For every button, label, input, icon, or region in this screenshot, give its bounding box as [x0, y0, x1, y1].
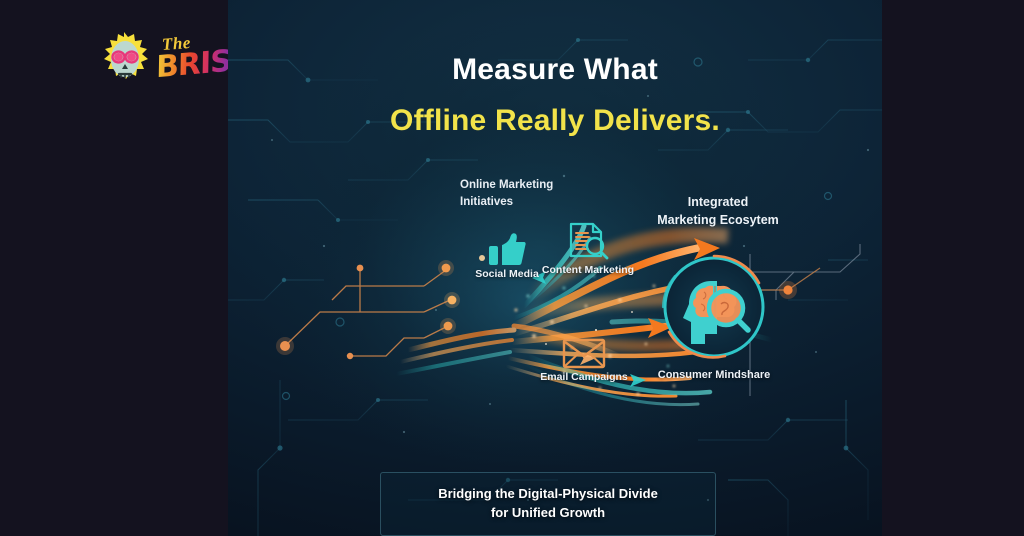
section-header-center: Integrated Marketing Ecosytem: [628, 193, 808, 229]
footer-caption-line2: for Unified Growth: [438, 504, 658, 523]
node-content-marketing[interactable]: Content Marketing: [538, 222, 638, 278]
section-header-online-line1: Online Marketing: [460, 177, 590, 194]
footer-caption-line1: Bridging the Digital-Physical Divide: [438, 485, 658, 504]
headline-line-2: Offline Really Delivers.: [228, 103, 882, 138]
document-search-icon: [567, 222, 609, 262]
brain-head-magnifier-icon: [655, 248, 773, 366]
section-header-online: Online Marketing Initiatives: [460, 177, 590, 210]
section-header-online-line2: Initiatives: [460, 194, 590, 211]
consumer-mindshare-label: Consumer Mindshare: [633, 369, 795, 381]
thumbs-up-icon: [488, 232, 526, 266]
node-label-email-campaigns: Email Campaigns: [536, 371, 632, 385]
node-email-campaigns[interactable]: Email Campaigns: [536, 337, 632, 385]
footer-caption: Bridging the Digital-Physical Divide for…: [438, 485, 658, 523]
page-title: Measure What Offline Really Delivers.: [228, 52, 882, 139]
infographic-panel: Measure What Offline Really Delivers. On…: [228, 0, 882, 536]
section-header-center-line2: Marketing Ecosytem: [628, 211, 808, 229]
mascot-face-icon: [96, 30, 152, 88]
node-label-content-marketing: Content Marketing: [538, 264, 638, 278]
screenshot-root: The BRISK: [0, 0, 1024, 536]
envelope-icon: [562, 337, 606, 369]
section-header-center-line1: Integrated: [628, 193, 808, 211]
footer-caption-box: Bridging the Digital-Physical Divide for…: [380, 472, 716, 536]
consumer-mindshare-hub[interactable]: [655, 248, 773, 366]
headline-line-1: Measure What: [228, 52, 882, 87]
node-social-media[interactable]: Social Media: [466, 232, 548, 282]
node-label-social-media: Social Media: [466, 268, 548, 282]
